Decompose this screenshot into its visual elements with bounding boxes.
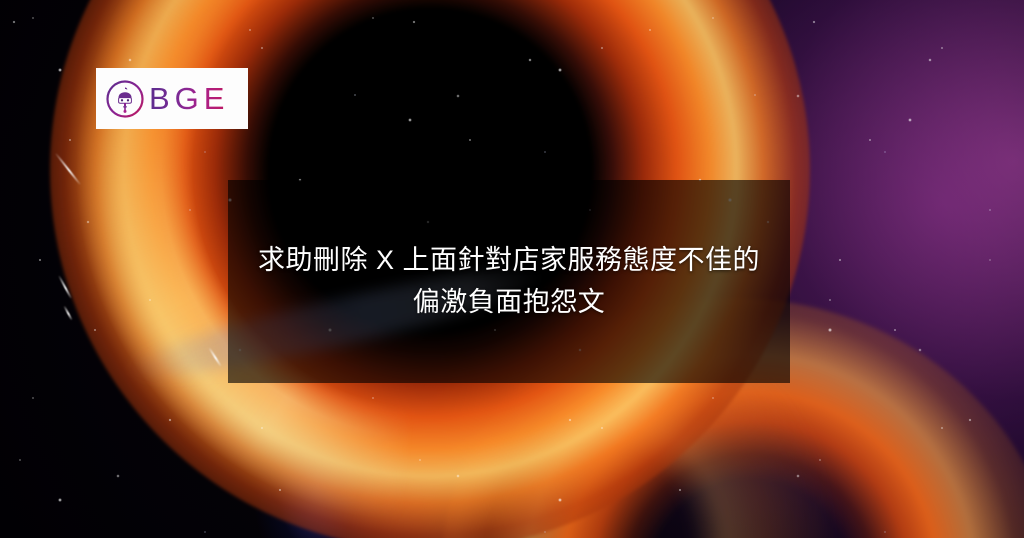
logo-wordmark: BGE xyxy=(149,83,229,114)
title-line-1: 求助刪除 X 上面針對店家服務態度不佳的 xyxy=(258,240,760,282)
logo[interactable]: BGE xyxy=(96,68,248,129)
page-title: 求助刪除 X 上面針對店家服務態度不佳的 偏激負面抱怨文 xyxy=(258,240,760,324)
title-overlay-band: 求助刪除 X 上面針對店家服務態度不佳的 偏激負面抱怨文 xyxy=(228,180,790,383)
banner-image: BGE 求助刪除 X 上面針對店家服務態度不佳的 偏激負面抱怨文 xyxy=(0,0,1024,538)
bge-circular-face-icon xyxy=(105,79,145,119)
title-line-2: 偏激負面抱怨文 xyxy=(258,282,760,324)
